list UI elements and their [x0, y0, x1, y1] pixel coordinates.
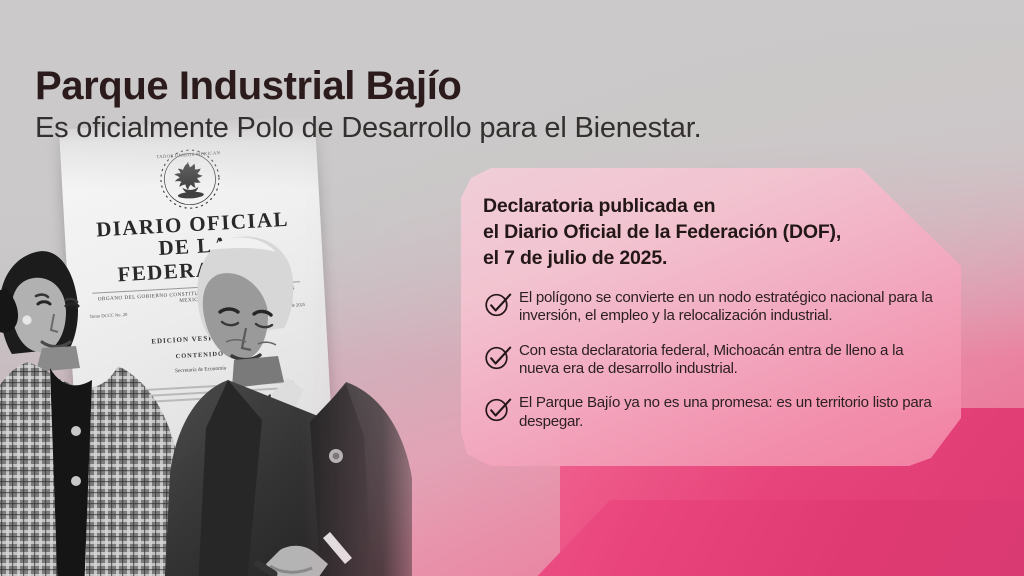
- slide-canvas: ESTADOS UNIDOS MEXICANOS DIARIO OFICIAL …: [0, 0, 1024, 576]
- callout-heading-line-3: el 7 de julio de 2025.: [483, 246, 937, 272]
- callout-heading-line-1: Declaratoria publicada en: [483, 194, 937, 220]
- svg-text:ESTADOS UNIDOS MEXICANOS: ESTADOS UNIDOS MEXICANOS: [156, 150, 223, 160]
- callout-heading: Declaratoria publicada en el Diario Ofic…: [483, 194, 937, 272]
- list-item: Con esta declaratoria federal, Michoacán…: [483, 341, 937, 379]
- check-circle-icon: [483, 342, 513, 372]
- page-title: Parque Industrial Bajío: [35, 65, 461, 107]
- list-item: El polígono se convierte en un nodo estr…: [483, 288, 937, 326]
- callout-bullet-list: El polígono se convierte en un nodo estr…: [483, 288, 937, 431]
- person-left: [0, 244, 180, 576]
- person-right: [162, 232, 412, 576]
- list-item-label: Con esta declaratoria federal, Michoacán…: [519, 341, 937, 379]
- check-circle-icon: [483, 394, 513, 424]
- list-item-label: El polígono se convierte en un nodo estr…: [519, 288, 937, 326]
- list-item: El Parque Bajío ya no es una promesa: es…: [483, 393, 937, 431]
- signing-photo: ESTADOS UNIDOS MEXICANOS DIARIO OFICIAL …: [0, 116, 446, 576]
- declaration-callout-content: Declaratoria publicada en el Diario Ofic…: [461, 168, 961, 466]
- mexican-coat-of-arms-icon: ESTADOS UNIDOS MEXICANOS: [156, 146, 223, 211]
- check-circle-icon: [483, 289, 513, 319]
- page-subtitle: Es oficialmente Polo de Desarrollo para …: [35, 111, 701, 146]
- callout-heading-line-2: el Diario Oficial de la Federación (DOF)…: [483, 220, 937, 246]
- list-item-label: El Parque Bajío ya no es una promesa: es…: [519, 393, 937, 431]
